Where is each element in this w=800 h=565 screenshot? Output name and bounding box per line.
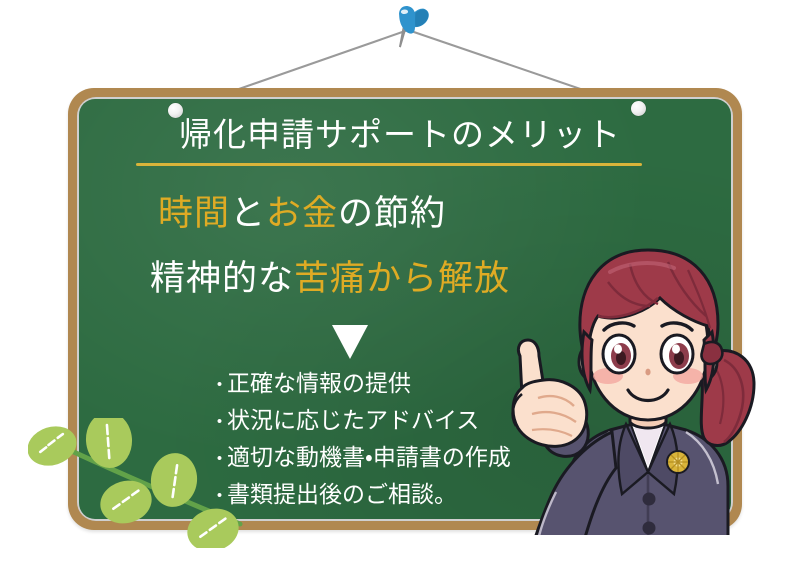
list-item: ・ 状況に応じたアドバイス bbox=[210, 403, 630, 440]
string-eyelet-right bbox=[631, 101, 646, 116]
bullet-marker-icon: ・ bbox=[210, 405, 227, 440]
down-triangle-icon bbox=[332, 325, 368, 359]
headline-2-segment-2: 苦痛から解放 bbox=[294, 259, 510, 298]
headline-line-1: 時間とお金の節約 bbox=[158, 192, 446, 236]
list-item-label: 書類提出後のご相談。 bbox=[227, 477, 457, 512]
bullet-marker-icon: ・ bbox=[210, 368, 227, 403]
list-item-label: 適切な動機書・申請書の作成 bbox=[227, 440, 511, 475]
headline-line-2: 精神的な苦痛から解放 bbox=[150, 257, 510, 301]
list-item: ・ 正確な情報の提供 bbox=[210, 366, 630, 403]
bullet-marker-icon: ・ bbox=[210, 479, 227, 514]
poster-canvas: 帰化申請サポートのメリット 時間とお金の節約 精神的な苦痛から解放 ・ 正確な情… bbox=[0, 0, 800, 565]
list-item-label: 正確な情報の提供 bbox=[227, 366, 411, 401]
list-item: ・ 適切な動機書・申請書の作成 bbox=[210, 440, 630, 477]
headline-1-segment-1: 時間 bbox=[158, 194, 230, 233]
bullet-marker-icon: ・ bbox=[210, 442, 227, 477]
page-title: 帰化申請サポートのメリット bbox=[0, 115, 800, 155]
list-item-label: 状況に応じたアドバイス bbox=[227, 403, 479, 438]
headline-1-segment-3: お金 bbox=[266, 194, 338, 233]
headline-1-segment-2: と bbox=[230, 194, 266, 233]
title-underline-rule bbox=[136, 163, 642, 166]
headline-2-segment-1: 精神的な bbox=[150, 259, 294, 298]
headline-1-segment-4: の節約 bbox=[338, 194, 446, 233]
list-item: ・ 書類提出後のご相談。 bbox=[210, 477, 630, 514]
benefit-list: ・ 正確な情報の提供 ・ 状況に応じたアドバイス ・ 適切な動機書・申請書の作成… bbox=[210, 366, 630, 514]
pushpin-icon bbox=[387, 1, 431, 53]
